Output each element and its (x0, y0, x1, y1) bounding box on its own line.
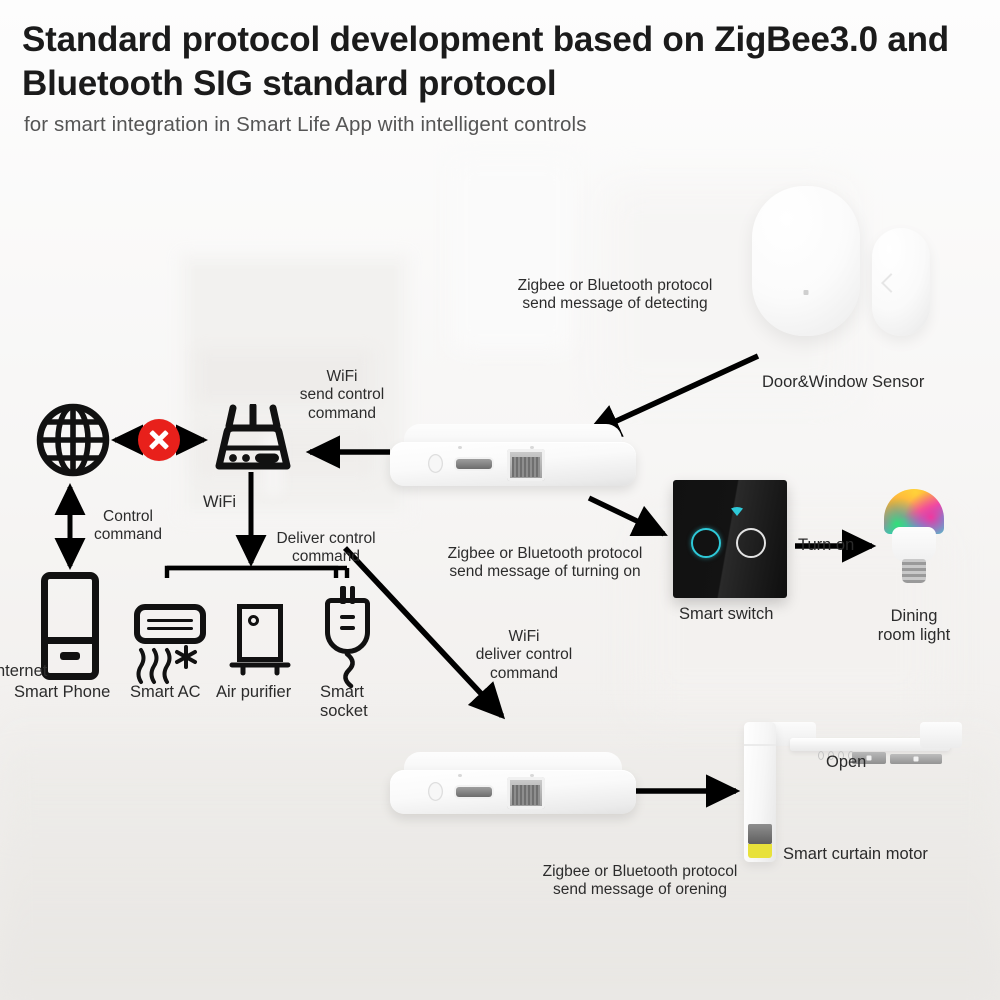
label-wifi-send-control-command: WiFi send control command (278, 368, 406, 423)
infographic-canvas: Standard protocol development based on Z… (0, 0, 1000, 1000)
smartphone-icon (41, 572, 99, 680)
label-router-wifi: WiFi (203, 493, 236, 512)
label-sensor-detect: Zigbee or Bluetooth protocol send messag… (470, 277, 760, 314)
switch-button-left[interactable] (691, 528, 721, 558)
gateway-button (428, 454, 443, 473)
label-switch-turning-on: Zigbee or Bluetooth protocol send messag… (420, 545, 670, 582)
label-smart-ac: Smart AC (130, 683, 201, 702)
smart-touch-switch-icon[interactable] (673, 480, 787, 598)
label-smart-socket: Smart socket (320, 683, 368, 722)
label-door-window-sensor: Door&Window Sensor (762, 373, 924, 392)
label-control-command: Control command (78, 508, 178, 545)
rgb-bulb-icon (884, 489, 944, 585)
switch-wifi-indicator-icon (730, 504, 744, 515)
curtain-ring (818, 751, 824, 760)
label-dining-room-light: Dining room light (858, 607, 970, 646)
air-conditioner-icon (134, 604, 206, 644)
door-window-sensor-main (752, 186, 860, 336)
label-wifi-deliver-control-command: WiFi deliver control command (460, 628, 588, 683)
label-deliver-control-command: Deliver control command (266, 530, 386, 567)
background-window (452, 160, 572, 350)
globe-icon (36, 403, 110, 477)
label-curtain-opening: Zigbee or Bluetooth protocol send messag… (490, 863, 790, 900)
switch-button-right[interactable] (736, 528, 766, 558)
zigbee-gateway-bottom (390, 752, 636, 814)
label-air-purifier: Air purifier (216, 683, 291, 702)
air-purifier-icon (237, 604, 283, 662)
zigbee-gateway-top (390, 424, 636, 486)
curtain-motor-icon (744, 722, 776, 862)
label-internet: nternet (0, 662, 47, 681)
label-turn-on: Turn on (798, 536, 854, 555)
curtain-carrier-b (890, 754, 942, 764)
label-curtain-motor: Smart curtain motor (783, 845, 928, 864)
page-title: Standard protocol development based on Z… (22, 18, 982, 107)
label-open: Open (826, 753, 866, 772)
gateway-usb-port (456, 787, 492, 797)
power-plug-icon (325, 598, 370, 654)
label-smart-switch: Smart switch (679, 605, 773, 624)
connection-blocked-badge (138, 419, 180, 461)
gateway-button (428, 782, 443, 801)
gateway-usb-port (456, 459, 492, 469)
door-window-sensor-magnet (872, 228, 930, 336)
gateway-ethernet-port (507, 777, 545, 809)
label-smart-phone: Smart Phone (14, 683, 110, 702)
gateway-ethernet-port (507, 449, 545, 481)
curtain-rail-end-cap (920, 722, 962, 748)
page-subtitle: for smart integration in Smart Life App … (24, 113, 974, 137)
curtain-motor-battery (748, 844, 772, 858)
